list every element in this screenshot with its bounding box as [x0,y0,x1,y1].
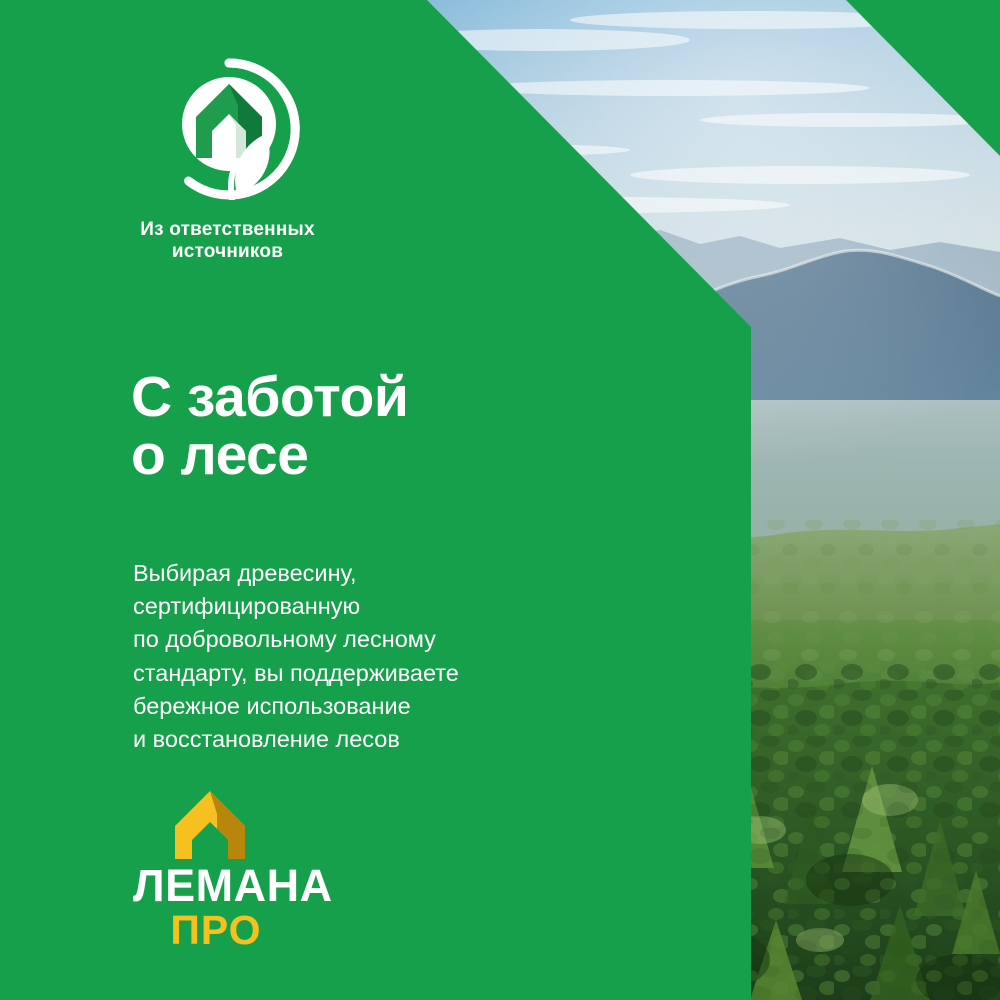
certification-block: Из ответственных источников [130,58,420,264]
certification-caption: Из ответственных источников [130,219,325,264]
certification-caption-line-1: Из ответственных [130,219,325,241]
brand-wordmark: ЛЕМАНА ПРО [133,863,333,951]
page-title: С заботой о лесе [131,368,408,484]
certification-caption-line-2: источников [130,241,325,263]
poster-canvas: Из ответственных источников С заботой о … [0,0,1000,1000]
brand-logo: ЛЕМАНА ПРО [133,789,363,951]
brand-suffix: ПРО [133,910,299,951]
body-paragraph: Выбирая древесину, сертифицированную по … [133,557,459,757]
brand-name: ЛЕМАНА [133,863,333,908]
responsible-sources-seal [158,58,300,200]
forest-and-mountains-photo [420,0,1000,1000]
lemana-house-icon [173,789,247,861]
